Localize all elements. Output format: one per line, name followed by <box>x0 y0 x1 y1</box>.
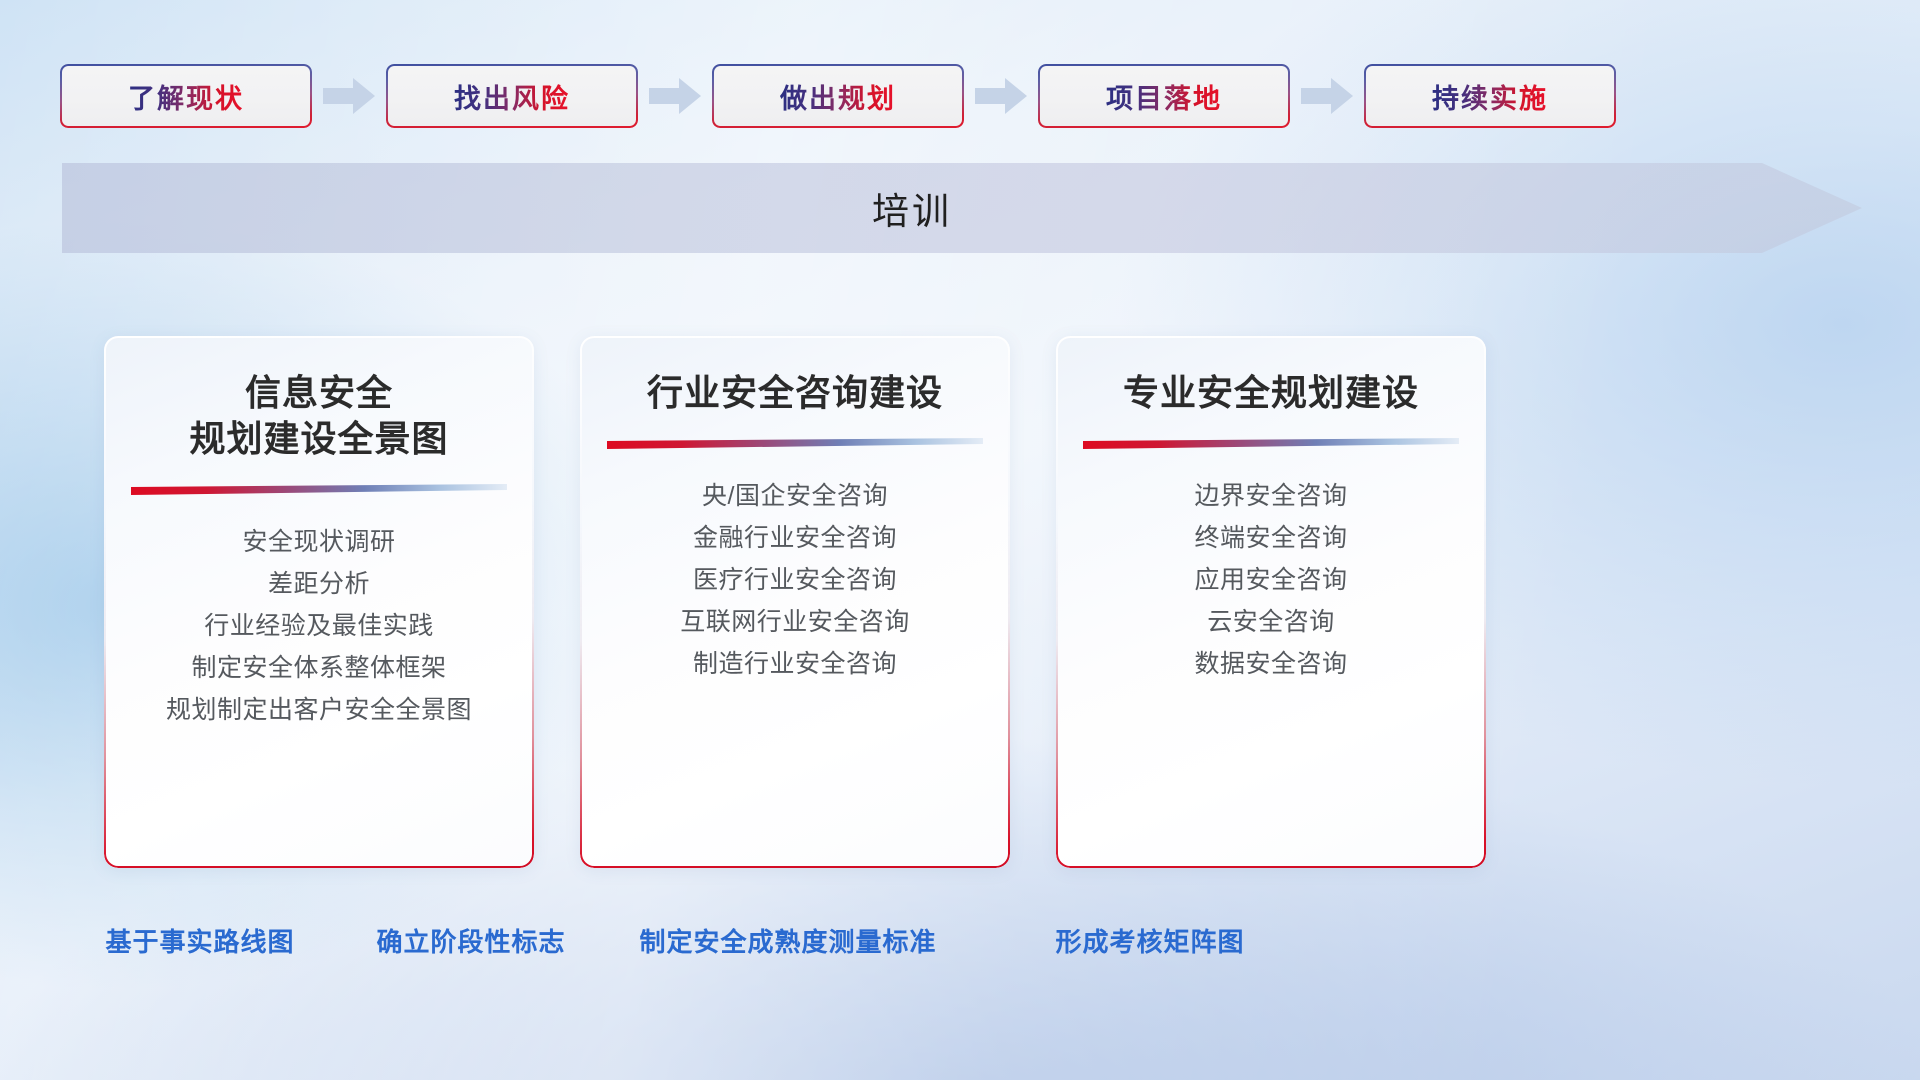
list-item: 终端安全咨询 <box>1194 517 1347 559</box>
footer-label-1: 基于事实路线图 <box>105 922 294 959</box>
step-box-2[interactable]: 找出风险 <box>386 64 638 128</box>
arrow-right-icon <box>321 76 377 116</box>
step-box-3[interactable]: 做出规划 <box>712 64 964 128</box>
step-label-2: 找出风险 <box>454 77 570 116</box>
step-box-4[interactable]: 项目落地 <box>1038 64 1290 128</box>
list-item: 数据安全咨询 <box>1194 643 1347 685</box>
footer-label-4: 形成考核矩阵图 <box>1055 922 1244 959</box>
card-title-2: 行业安全咨询建设 <box>647 370 943 416</box>
list-item: 应用安全咨询 <box>1194 559 1347 601</box>
list-item: 云安全咨询 <box>1207 601 1335 643</box>
step-label-5: 持续实施 <box>1432 77 1548 116</box>
step-label-3: 做出规划 <box>780 77 896 116</box>
list-item: 制定安全体系整体框架 <box>191 647 446 689</box>
card-list-2: 央/国企安全咨询 金融行业安全咨询 医疗行业安全咨询 互联网行业安全咨询 制造行… <box>680 475 910 685</box>
training-banner: 培训 <box>62 163 1862 253</box>
list-item: 互联网行业安全咨询 <box>680 601 910 643</box>
list-item: 安全现状调研 <box>242 521 395 563</box>
card-3[interactable]: 专业安全规划建设 边界安全咨 <box>1056 336 1486 868</box>
card-divider-2 <box>607 438 983 449</box>
footer-label-2: 确立阶段性标志 <box>376 922 565 959</box>
arrow-right-icon <box>1299 76 1355 116</box>
process-step-row: 了解现状 找出风险 做出规划 项目落地 持续实施 <box>60 62 1860 130</box>
card-2[interactable]: 行业安全咨询建设 央/国企安 <box>580 336 1010 868</box>
card-1[interactable]: 信息安全 规划建设全景图 安 <box>104 336 534 868</box>
card-list-3: 边界安全咨询 终端安全咨询 应用安全咨询 云安全咨询 数据安全咨询 <box>1194 475 1347 685</box>
card-divider-1 <box>131 484 507 495</box>
list-item: 行业经验及最佳实践 <box>204 605 434 647</box>
step-box-5[interactable]: 持续实施 <box>1364 64 1616 128</box>
list-item: 制造行业安全咨询 <box>693 643 897 685</box>
footer-label-3: 制定安全成熟度测量标准 <box>639 922 936 959</box>
card-row: 信息安全 规划建设全景图 安 <box>104 336 1816 868</box>
list-item: 金融行业安全咨询 <box>693 517 897 559</box>
arrow-right-icon <box>973 76 1029 116</box>
card-title-3: 专业安全规划建设 <box>1123 370 1419 416</box>
card-list-1: 安全现状调研 差距分析 行业经验及最佳实践 制定安全体系整体框架 规划制定出客户… <box>166 521 472 731</box>
arrow-right-icon <box>647 76 703 116</box>
card-slot-1: 信息安全 规划建设全景图 安 <box>104 336 534 868</box>
list-item: 央/国企安全咨询 <box>702 475 888 517</box>
card-divider-3 <box>1083 438 1459 449</box>
footer-label-row: 基于事实路线图 确立阶段性标志 制定安全成熟度测量标准 形成考核矩阵图 <box>0 922 1920 972</box>
step-label-1: 了解现状 <box>128 77 244 116</box>
card-title-1: 信息安全 规划建设全景图 <box>189 370 448 462</box>
list-item: 差距分析 <box>268 563 370 605</box>
list-item: 医疗行业安全咨询 <box>693 559 897 601</box>
card-slot-3: 专业安全规划建设 边界安全咨 <box>1056 336 1486 868</box>
list-item: 边界安全咨询 <box>1194 475 1347 517</box>
step-label-4: 项目落地 <box>1106 77 1222 116</box>
banner-title: 培训 <box>62 163 1762 253</box>
card-slot-2: 行业安全咨询建设 央/国企安 <box>580 336 1010 868</box>
list-item: 规划制定出客户安全全景图 <box>166 689 472 731</box>
step-box-1[interactable]: 了解现状 <box>60 64 312 128</box>
